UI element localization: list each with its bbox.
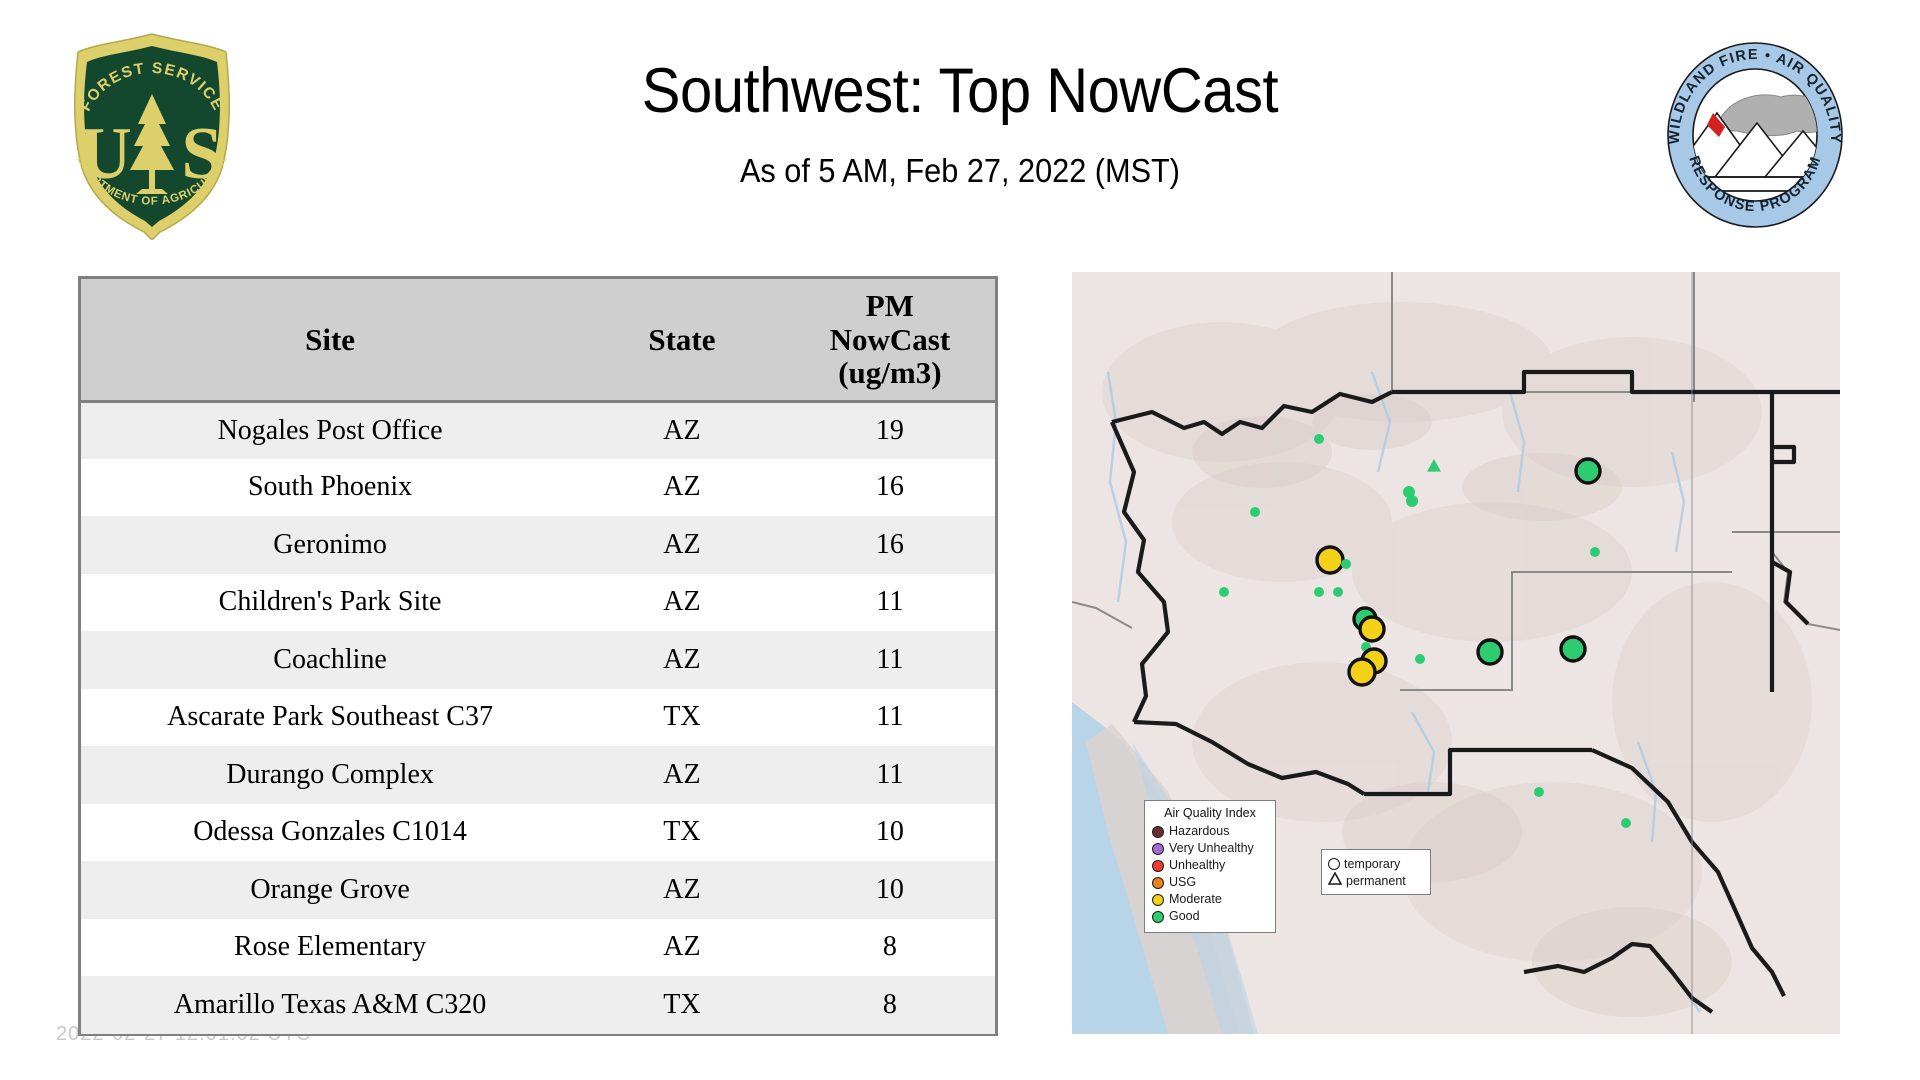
permanent-monitor-icon [1328,872,1342,890]
aqi-legend-row: USG [1152,874,1268,891]
title-block: Southwest: Top NowCast As of 5 AM, Feb 2… [300,58,1620,190]
aqi-swatch-icon [1152,860,1164,872]
monitor-marker-highlighted[interactable] [1349,659,1375,685]
monitor-marker[interactable] [1314,587,1324,597]
pm-cell: 8 [785,919,995,977]
aqi-legend-label: Good [1169,910,1200,923]
state-cell: AZ [579,919,785,977]
symbol-legend-row-permanent: permanent [1328,872,1424,889]
aqi-legend-title: Air Quality Index [1152,806,1268,820]
slide-root: 2022-02-27 12:01:02 UTC FOREST SERVICE D… [0,0,1920,1080]
usda-forest-service-logo: FOREST SERVICE DEPARTMENT OF AGRICULTURE… [52,28,252,240]
state-cell: AZ [579,459,785,517]
pm-cell: 8 [785,976,995,1034]
nowcast-table: Site State PM NowCast (ug/m3) Nogales Po… [81,279,995,1034]
site-cell: Odessa Gonzales C1014 [81,804,579,862]
air-quality-map[interactable]: Air Quality Index HazardousVery Unhealth… [1072,272,1840,1034]
svg-text:U: U [78,113,131,195]
page-title: Southwest: Top NowCast [353,58,1567,124]
wildland-fire-air-quality-response-program-logo: WILDLAND FIRE • AIR QUALITY RESPONSE PRO… [1657,35,1853,235]
pm-cell: 11 [785,746,995,804]
monitor-marker-highlighted[interactable] [1478,640,1502,664]
monitor-marker-highlighted[interactable] [1561,637,1585,661]
aqi-legend-row: Good [1152,908,1268,925]
table-header-row: Site State PM NowCast (ug/m3) [81,279,995,401]
monitor-marker-highlighted[interactable] [1317,547,1343,573]
monitor-marker[interactable] [1406,495,1418,507]
aqi-legend-row: Unhealthy [1152,857,1268,874]
state-cell: AZ [579,574,785,632]
site-cell: South Phoenix [81,459,579,517]
monitor-marker[interactable] [1621,818,1631,828]
aqi-swatch-icon [1152,826,1164,838]
site-cell: Children's Park Site [81,574,579,632]
column-header-pm-nowcast[interactable]: PM NowCast (ug/m3) [785,279,995,401]
table-head: Site State PM NowCast (ug/m3) [81,279,995,401]
table-row[interactable]: CoachlineAZ11 [81,631,995,689]
pm-header-line-3: (ug/m3) [787,356,993,389]
pm-cell: 10 [785,861,995,919]
column-header-state[interactable]: State [579,279,785,401]
symbol-legend-row-temporary: temporary [1328,855,1424,872]
temporary-monitor-icon [1328,858,1340,870]
table-row[interactable]: Amarillo Texas A&M C320TX8 [81,976,995,1034]
table-row[interactable]: Odessa Gonzales C1014TX10 [81,804,995,862]
aqi-legend-label: Moderate [1169,893,1222,906]
pm-cell: 16 [785,516,995,574]
aqi-legend-row: Moderate [1152,891,1268,908]
svg-text:S: S [181,113,222,195]
site-cell: Amarillo Texas A&M C320 [81,976,579,1034]
site-cell: Geronimo [81,516,579,574]
table-row[interactable]: Nogales Post OfficeAZ19 [81,401,995,459]
state-cell: AZ [579,631,785,689]
site-cell: Coachline [81,631,579,689]
pm-cell: 11 [785,631,995,689]
table-row[interactable]: GeronimoAZ16 [81,516,995,574]
site-cell: Orange Grove [81,861,579,919]
monitor-marker[interactable] [1219,587,1229,597]
state-cell: AZ [579,401,785,459]
aqi-legend-row: Very Unhealthy [1152,840,1268,857]
monitor-marker[interactable] [1341,559,1351,569]
state-cell: AZ [579,516,785,574]
table-body: Nogales Post OfficeAZ19South PhoenixAZ16… [81,401,995,1034]
site-cell: Nogales Post Office [81,401,579,459]
monitor-marker[interactable] [1415,654,1425,664]
monitor-marker[interactable] [1250,507,1260,517]
table-row[interactable]: South PhoenixAZ16 [81,459,995,517]
monitor-marker-highlighted[interactable] [1576,459,1600,483]
table-row[interactable]: Rose ElementaryAZ8 [81,919,995,977]
aqi-legend-label: Unhealthy [1169,859,1225,872]
state-cell: AZ [579,861,785,919]
table-row[interactable]: Children's Park SiteAZ11 [81,574,995,632]
state-cell: TX [579,804,785,862]
pm-cell: 16 [785,459,995,517]
monitor-marker-highlighted[interactable] [1360,617,1384,641]
state-cell: TX [579,689,785,747]
monitor-marker[interactable] [1590,547,1600,557]
column-header-site[interactable]: Site [81,279,579,401]
pm-cell: 11 [785,689,995,747]
state-cell: AZ [579,746,785,804]
site-cell: Durango Complex [81,746,579,804]
aqi-legend: Air Quality Index HazardousVery Unhealth… [1144,800,1276,933]
table-row[interactable]: Orange GroveAZ10 [81,861,995,919]
symbol-legend-label-temporary: temporary [1344,857,1400,871]
symbol-legend: temporary permanent [1321,849,1431,895]
pm-header-line-1: PM [787,289,993,322]
aqi-legend-rows: HazardousVery UnhealthyUnhealthyUSGModer… [1152,823,1268,925]
nowcast-table-container: Site State PM NowCast (ug/m3) Nogales Po… [78,276,998,1036]
aqi-legend-label: Very Unhealthy [1169,842,1254,855]
aqi-legend-label: USG [1169,876,1196,889]
aqi-swatch-icon [1152,843,1164,855]
table-row[interactable]: Durango ComplexAZ11 [81,746,995,804]
table-row[interactable]: Ascarate Park Southeast C37TX11 [81,689,995,747]
monitor-marker[interactable] [1427,459,1441,472]
site-cell: Ascarate Park Southeast C37 [81,689,579,747]
aqi-legend-label: Hazardous [1169,825,1229,838]
pm-header-line-2: NowCast [787,323,993,356]
monitor-marker[interactable] [1534,787,1544,797]
site-cell: Rose Elementary [81,919,579,977]
monitor-marker[interactable] [1333,587,1343,597]
aqi-swatch-icon [1152,894,1164,906]
aqi-swatch-icon [1152,877,1164,889]
pm-cell: 19 [785,401,995,459]
pm-cell: 11 [785,574,995,632]
pm-cell: 10 [785,804,995,862]
aqi-legend-row: Hazardous [1152,823,1268,840]
page-subtitle: As of 5 AM, Feb 27, 2022 (MST) [346,152,1574,190]
monitor-marker[interactable] [1314,434,1324,444]
state-cell: TX [579,976,785,1034]
symbol-legend-label-permanent: permanent [1346,874,1406,888]
aqi-swatch-icon [1152,911,1164,923]
